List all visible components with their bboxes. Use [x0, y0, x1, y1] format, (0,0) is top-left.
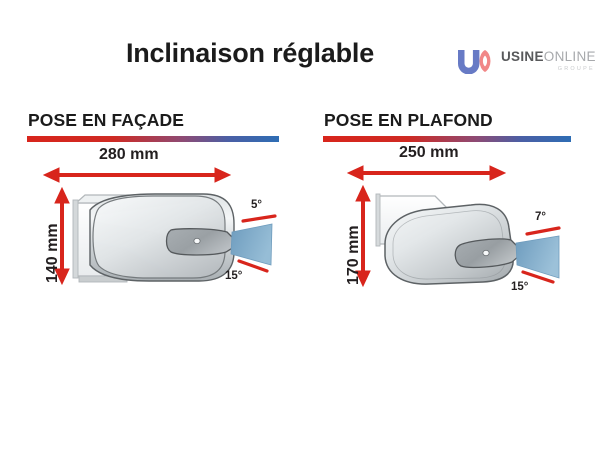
panel-accent-rule-plafond	[323, 136, 571, 142]
panel-heading-facade: POSE EN FAÇADE	[27, 110, 279, 136]
angle-max-label-plafond: 15°	[511, 281, 528, 293]
panel-pose-en-facade: POSE EN FAÇADE	[27, 110, 279, 340]
panel-heading-plafond: POSE EN PLAFOND	[323, 110, 571, 136]
logo-word-primary: USINE	[501, 49, 544, 64]
width-dimension-arrow-facade	[44, 168, 230, 182]
diagram-plafond: 250 mm 170 mm 7° 15°	[323, 148, 571, 338]
device-body-plafond	[385, 204, 519, 284]
angle-tick-min-facade	[243, 216, 275, 221]
angle-max-label-facade: 15°	[225, 270, 242, 282]
panel-accent-rule-facade	[27, 136, 279, 142]
logo-word-secondary: ONLINE	[544, 49, 596, 64]
panel-pose-en-plafond: POSE EN PLAFOND	[323, 110, 571, 340]
page-header: Inclinaison réglable USINEONLINE GROUPE	[0, 0, 600, 100]
height-label-facade: 140 mm	[44, 223, 62, 283]
page-title: Inclinaison réglable	[0, 38, 500, 69]
usine-online-logo[interactable]: USINEONLINE GROUPE	[456, 44, 588, 78]
width-dimension-arrow-plafond	[348, 166, 505, 180]
width-label-plafond: 250 mm	[399, 144, 459, 162]
diagram-facade: 280 mm 140 mm 5° 15°	[27, 148, 279, 338]
angle-min-label-facade: 5°	[251, 199, 262, 211]
logo-text: USINEONLINE GROUPE	[501, 50, 596, 72]
width-label-facade: 280 mm	[99, 146, 159, 164]
device-body-facade	[90, 194, 234, 281]
uo-monogram-icon	[456, 48, 494, 74]
angle-tick-min-plafond	[527, 228, 559, 234]
angle-min-label-plafond: 7°	[535, 211, 546, 223]
height-label-plafond: 170 mm	[345, 225, 363, 285]
tilt-wedge-facade	[231, 224, 272, 265]
logo-subtitle: GROUPE	[501, 67, 596, 73]
